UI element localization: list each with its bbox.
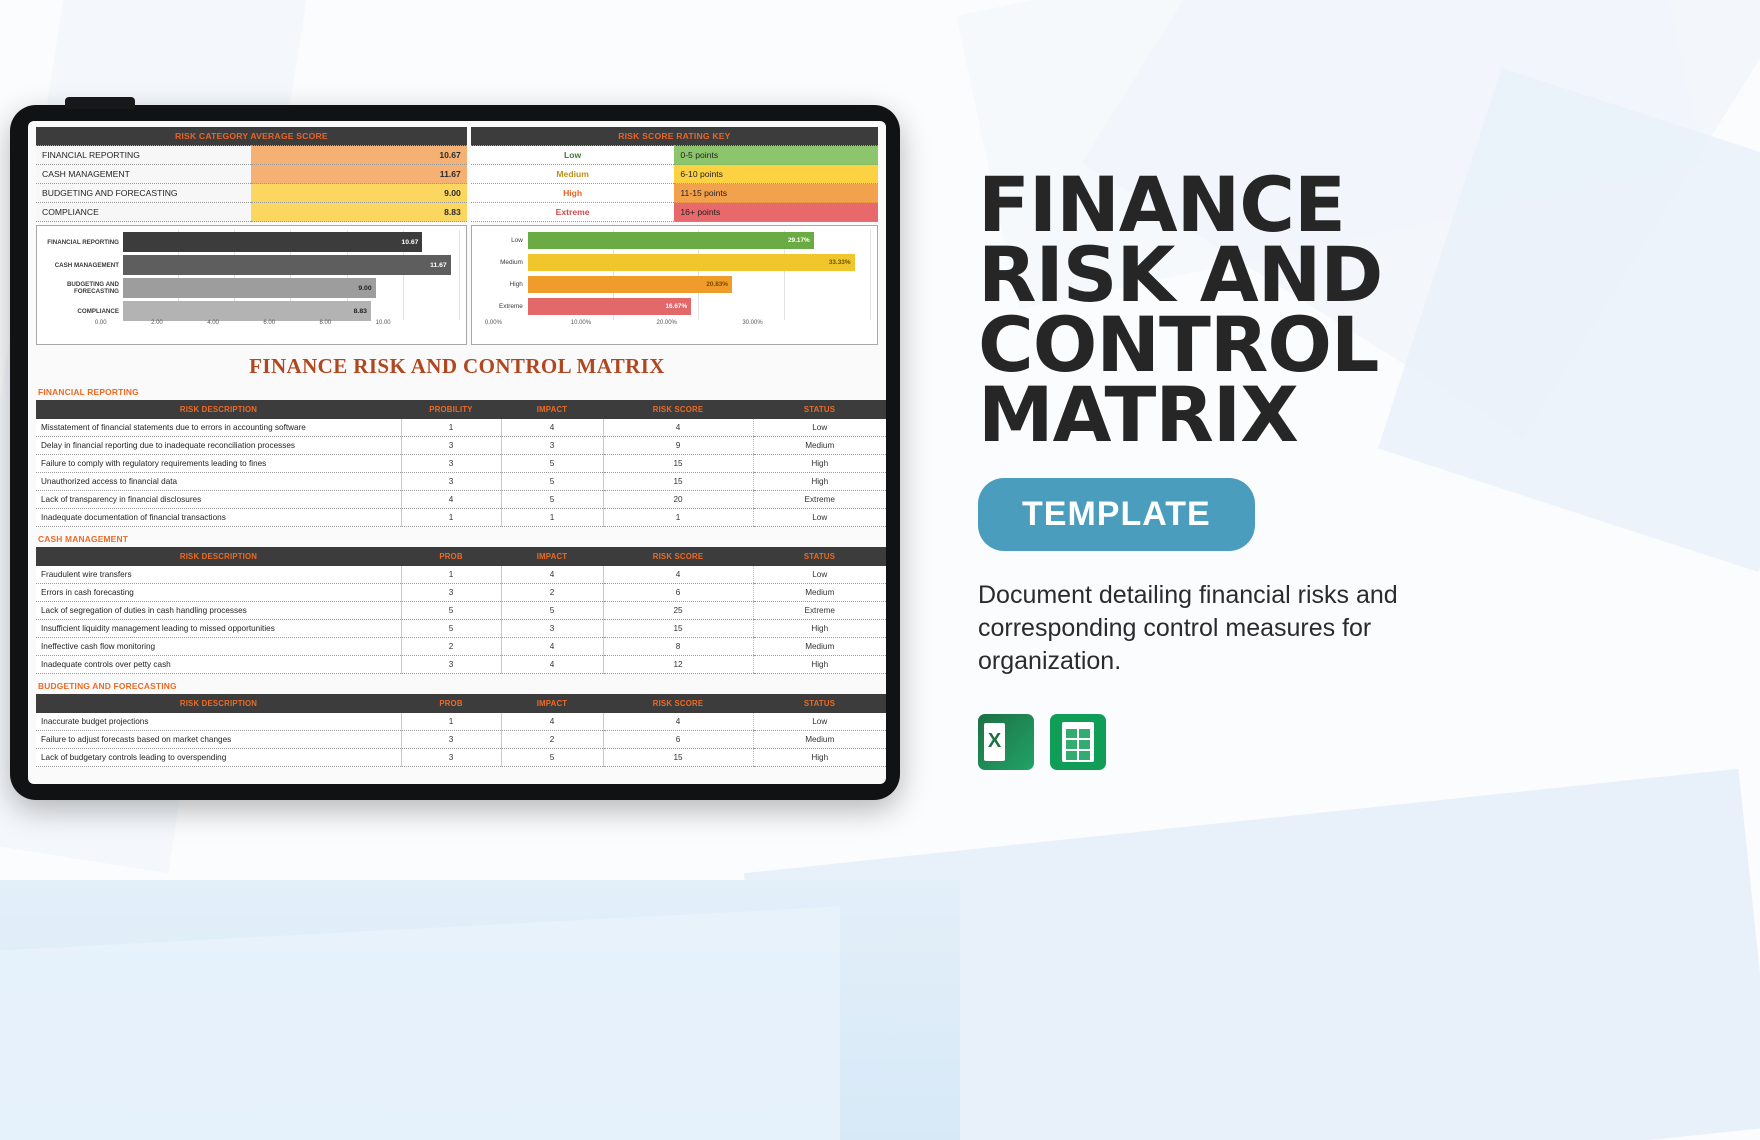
promo-panel: FINANCE RISK AND CONTROL MATRIX TEMPLATE… (978, 170, 1678, 770)
excel-icon[interactable]: X (978, 714, 1034, 770)
risk-score-rating-key-table: RISK SCORE RATING KEY Low0-5 points Medi… (471, 127, 878, 222)
table-header-row: RISK DESCRIPTION PROBILITY IMPACT RISK S… (36, 400, 886, 419)
bar-value: 11.67 (123, 255, 451, 275)
chart-bar-row: High20.83% (472, 276, 877, 293)
spreadsheet-content: RISK CATEGORY AVERAGE SCORE FINANCIAL RE… (28, 121, 886, 767)
table-row: High11-15 points (471, 184, 878, 203)
chart-bar-row: Medium33.33% (472, 254, 877, 271)
table-row: Unauthorized access to financial data351… (36, 473, 886, 491)
rating-key-header: RISK SCORE RATING KEY (471, 127, 878, 146)
table-row: Extreme16+ points (471, 203, 878, 222)
table-row: Lack of transparency in financial disclo… (36, 491, 886, 509)
chart-bar-row: COMPLIANCE8.83 (37, 301, 466, 321)
chart-bar-row: CASH MANAGEMENT11.67 (37, 255, 466, 275)
table-row: Failure to comply with regulatory requir… (36, 455, 886, 473)
table-row: Misstatement of financial statements due… (36, 419, 886, 437)
file-format-icons: X (978, 714, 1678, 770)
table-row: CASH MANAGEMENT11.67 (36, 165, 467, 184)
bar-value: 9.00 (123, 278, 376, 298)
section-title-financial-reporting: FINANCIAL REPORTING (38, 387, 878, 397)
table-row: Lack of budgetary controls leading to ov… (36, 749, 886, 767)
bar-value: 10.67 (123, 232, 422, 252)
table-row: Inadequate documentation of financial tr… (36, 509, 886, 527)
cash-management-table: RISK DESCRIPTION PROB IMPACT RISK SCORE … (36, 547, 886, 674)
tablet-screen: RISK CATEGORY AVERAGE SCORE FINANCIAL RE… (28, 121, 886, 784)
table-row: Fraudulent wire transfers144Low (36, 566, 886, 584)
budgeting-and-forecasting-table: RISK DESCRIPTION PROB IMPACT RISK SCORE … (36, 694, 886, 767)
table-row: Inadequate controls over petty cash3412H… (36, 656, 886, 674)
table-row: Delay in financial reporting due to inad… (36, 437, 886, 455)
chart-x-axis: 0.00 2.00 4.00 6.00 8.00 10.00 (37, 320, 466, 326)
section-title-cash-management: CASH MANAGEMENT (38, 534, 878, 544)
promo-description: Document detailing financial risks and c… (978, 579, 1498, 678)
promo-title: FINANCE RISK AND CONTROL MATRIX (978, 170, 1678, 450)
table-row: COMPLIANCE8.83 (36, 203, 467, 222)
chart-bar-row: FINANCIAL REPORTING10.67 (37, 232, 466, 252)
table-row: Medium6-10 points (471, 165, 878, 184)
table-row: Failure to adjust forecasts based on mar… (36, 731, 886, 749)
bar-value: 16.67% (528, 298, 691, 315)
google-sheets-icon[interactable] (1050, 714, 1106, 770)
bar-value: 33.33% (528, 254, 855, 271)
template-badge: TEMPLATE (978, 478, 1255, 551)
table-row: Insufficient liquidity management leadin… (36, 620, 886, 638)
chart-bar-row: Low29.17% (472, 232, 877, 249)
bar-value: 20.83% (528, 276, 732, 293)
chart-bar-row: BUDGETING AND FORECASTING9.00 (37, 278, 466, 298)
tablet-device-mockup: RISK CATEGORY AVERAGE SCORE FINANCIAL RE… (10, 105, 900, 800)
tablet-camera (65, 97, 135, 109)
table-row: Inaccurate budget projections144Low (36, 713, 886, 731)
table-row: FINANCIAL REPORTING10.67 (36, 146, 467, 165)
table-row: Errors in cash forecasting326Medium (36, 584, 886, 602)
bar-value: 29.17% (528, 232, 814, 249)
category-average-score-chart: FINANCIAL REPORTING10.67 CASH MANAGEMENT… (36, 225, 467, 345)
bar-value: 8.83 (123, 301, 371, 321)
risk-level-distribution-chart: Low29.17% Medium33.33% High20.83% Extrem… (471, 225, 878, 345)
table-row: Ineffective cash flow monitoring248Mediu… (36, 638, 886, 656)
table-row: Lack of segregation of duties in cash ha… (36, 602, 886, 620)
table-header-row: RISK DESCRIPTION PROB IMPACT RISK SCORE … (36, 694, 886, 713)
chart-x-axis: 0.00% 10.00% 20.00% 30.00% (472, 320, 877, 326)
section-title-budgeting-and-forecasting: BUDGETING AND FORECASTING (38, 681, 878, 691)
table-header-row: RISK DESCRIPTION PROB IMPACT RISK SCORE … (36, 547, 886, 566)
table-row: Low0-5 points (471, 146, 878, 165)
table-row: BUDGETING AND FORECASTING9.00 (36, 184, 467, 203)
charts-row: FINANCIAL REPORTING10.67 CASH MANAGEMENT… (36, 225, 878, 345)
financial-reporting-table: RISK DESCRIPTION PROBILITY IMPACT RISK S… (36, 400, 886, 527)
category-table-header: RISK CATEGORY AVERAGE SCORE (36, 127, 467, 146)
risk-category-average-score-table: RISK CATEGORY AVERAGE SCORE FINANCIAL RE… (36, 127, 467, 222)
page-title: FINANCE RISK AND CONTROL MATRIX (36, 354, 878, 379)
chart-bar-row: Extreme16.67% (472, 298, 877, 315)
promo-title-line-4: MATRIX (978, 380, 1678, 450)
summary-row: RISK CATEGORY AVERAGE SCORE FINANCIAL RE… (36, 127, 878, 222)
